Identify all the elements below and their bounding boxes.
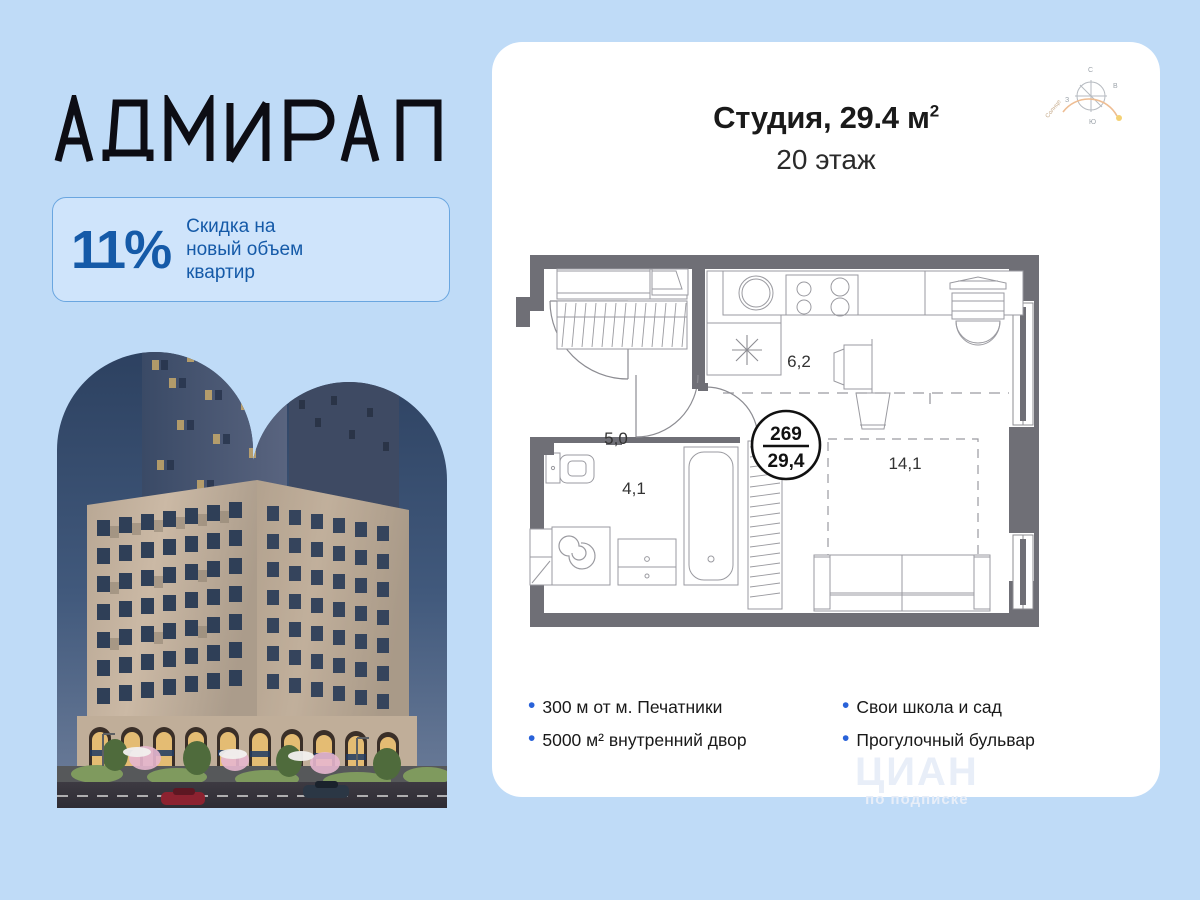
feature-label: Свои школа и сад [856, 697, 1002, 719]
feature-item-metro: • 300 м от м. Печатники [528, 697, 828, 719]
plan-title-superscript: 2 [930, 102, 939, 121]
plan-floor-label: 20 этаж [492, 144, 1160, 176]
discount-line-3: квартир [186, 261, 303, 284]
bullet-icon: • [528, 730, 535, 748]
discount-badge: 11% Скидка на новый объем квартир [52, 197, 450, 302]
bullet-icon: • [842, 730, 849, 748]
feature-item-school: • Свои школа и сад [828, 697, 1128, 719]
bullet-icon: • [528, 697, 535, 715]
advertisement-page: 11% Скидка на новый объем квартир [0, 0, 1200, 900]
compass-south-label: Ю [1089, 119, 1096, 126]
room-label-living: 14,1 [888, 454, 921, 473]
left-panel: 11% Скидка на новый объем квартир [0, 0, 480, 900]
compass-east-label: В [1113, 83, 1118, 90]
bullet-icon: • [842, 697, 849, 715]
features-list: • 300 м от м. Печатники • Свои школа и с… [528, 697, 1128, 763]
discount-line-1: Скидка на [186, 215, 303, 238]
apartment-number-text: 269 [770, 424, 802, 445]
compass-sun-label: Солнце [1045, 99, 1063, 120]
feature-label: Прогулочный бульвар [856, 730, 1034, 752]
building-rendering-image [57, 330, 447, 808]
feature-label: 300 м от м. Печатники [542, 697, 722, 719]
plan-title-text: Студия, 29.4 м [713, 100, 930, 135]
compass-west-label: З [1065, 97, 1069, 104]
apartment-area-text: 29,4 [768, 451, 805, 472]
feature-label: 5000 м² внутренний двор [542, 730, 746, 752]
room-label-kitchen: 6,2 [787, 352, 811, 371]
discount-percent: 11% [71, 223, 170, 277]
discount-description: Скидка на новый объем квартир [186, 215, 303, 285]
feature-item-boulevard: • Прогулочный бульвар [828, 730, 1128, 752]
room-label-bathroom: 4,1 [622, 479, 646, 498]
floorplan-drawing: 5,0 6,2 4,1 14,1 269 29,4 [510, 197, 1142, 667]
room-label-hall: 5,0 [604, 429, 628, 448]
apartment-badge: 269 29,4 [752, 411, 820, 479]
brand-logo [52, 95, 452, 165]
feature-item-courtyard: • 5000 м² внутренний двор [528, 730, 828, 752]
compass-rose: С В Ю З Солнце [1043, 54, 1138, 144]
floorplan-card: Студия, 29.4 м2 20 этаж С В Ю З [492, 42, 1160, 797]
compass-north-label: С [1088, 67, 1093, 74]
discount-line-2: новый объем [186, 238, 303, 261]
